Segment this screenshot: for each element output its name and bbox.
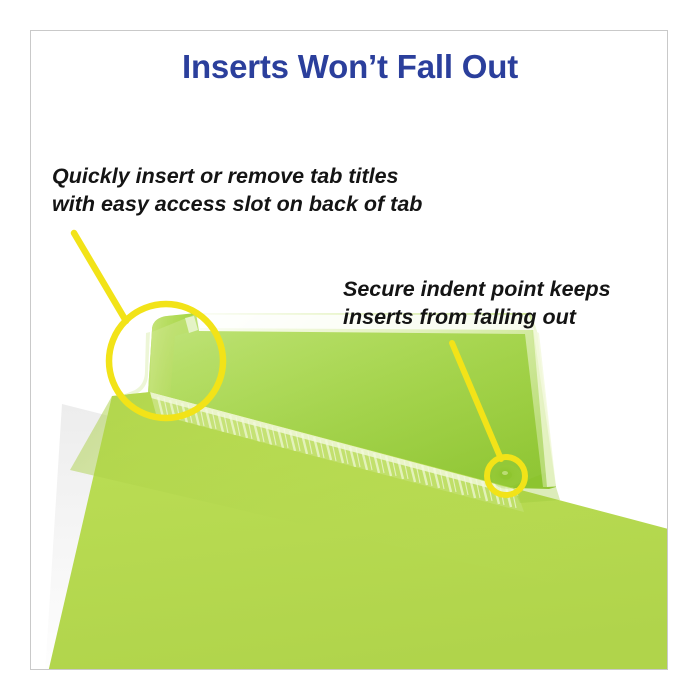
callout-right-line1: Secure indent point keeps <box>343 275 611 303</box>
access-slot-notch <box>110 331 150 396</box>
callout-right-line2: inserts from falling out <box>343 303 611 331</box>
screenshot-root: Inserts Won’t Fall Out Quickly insert or… <box>0 0 700 700</box>
indent-point-dimple <box>492 465 522 489</box>
callout-left-line2: with easy access slot on back of tab <box>52 190 422 218</box>
callout-secure-indent-text: Secure indent point keeps inserts from f… <box>343 275 611 331</box>
page-title: Inserts Won’t Fall Out <box>0 48 700 86</box>
image-frame <box>30 30 668 670</box>
callout-left-line1: Quickly insert or remove tab titles <box>52 162 422 190</box>
product-photo <box>30 30 668 670</box>
callout-easy-access-slot-text: Quickly insert or remove tab titles with… <box>52 162 422 218</box>
